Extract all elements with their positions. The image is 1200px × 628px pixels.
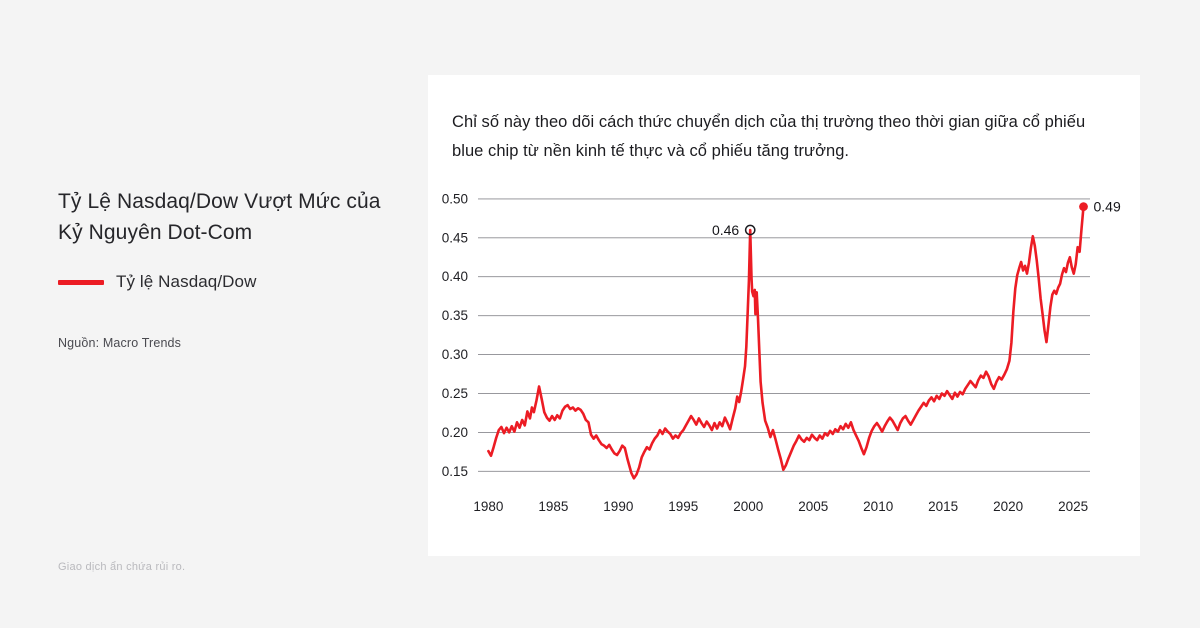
y-tick-label: 0.35 (442, 308, 468, 323)
y-axis-tick-labels: 0.150.200.250.300.350.400.450.50 (442, 191, 468, 478)
left-info-panel: Tỷ Lệ Nasdaq/Dow Vượt Mức của Kỷ Nguyên … (0, 0, 428, 628)
nasdaq-dow-ratio-line (488, 207, 1083, 479)
chart-description: Chỉ số này theo dõi cách thức chuyển dịc… (452, 108, 1112, 166)
x-tick-label: 2005 (798, 499, 828, 514)
y-tick-label: 0.30 (442, 347, 468, 362)
x-tick-label: 2015 (928, 499, 958, 514)
series-group (488, 207, 1083, 479)
x-tick-label: 2020 (993, 499, 1023, 514)
grid-lines (478, 199, 1090, 471)
x-tick-label: 2010 (863, 499, 893, 514)
line-chart: 0.150.200.250.300.350.400.450.50 1980198… (428, 183, 1140, 543)
y-tick-label: 0.25 (442, 386, 468, 401)
y-tick-label: 0.40 (442, 269, 468, 284)
x-tick-label: 2025 (1058, 499, 1088, 514)
latest-value-value-label: 0.49 (1094, 199, 1121, 215)
x-tick-label: 1980 (473, 499, 503, 514)
legend-color-swatch-icon (58, 280, 104, 285)
x-tick-label: 2000 (733, 499, 763, 514)
chart-legend: Tỷ lệ Nasdaq/Dow (58, 272, 257, 292)
x-tick-label: 1990 (603, 499, 633, 514)
page-title: Tỷ Lệ Nasdaq/Dow Vượt Mức của Kỷ Nguyên … (58, 186, 398, 248)
dotcom-peak-value-label: 0.46 (712, 222, 739, 238)
chart-card: Chỉ số này theo dõi cách thức chuyển dịc… (428, 75, 1140, 556)
y-tick-label: 0.50 (442, 191, 468, 206)
chart-container: 0.150.200.250.300.350.400.450.50 1980198… (428, 183, 1140, 543)
y-tick-label: 0.45 (442, 230, 468, 245)
y-tick-label: 0.15 (442, 464, 468, 479)
annotation-group: 0.460.49 (712, 199, 1121, 238)
legend-series-label: Tỷ lệ Nasdaq/Dow (116, 272, 257, 292)
screenshot-root: Tỷ Lệ Nasdaq/Dow Vượt Mức của Kỷ Nguyên … (0, 0, 1200, 628)
latest-value-marker-icon (1079, 202, 1088, 211)
x-axis-tick-labels: 1980198519901995200020052010201520202025 (473, 499, 1088, 514)
x-tick-label: 1995 (668, 499, 698, 514)
y-tick-label: 0.20 (442, 425, 468, 440)
x-tick-label: 1985 (538, 499, 568, 514)
risk-disclaimer: Giao dịch ẩn chứa rủi ro. (58, 561, 185, 573)
source-note: Nguồn: Macro Trends (58, 336, 181, 350)
